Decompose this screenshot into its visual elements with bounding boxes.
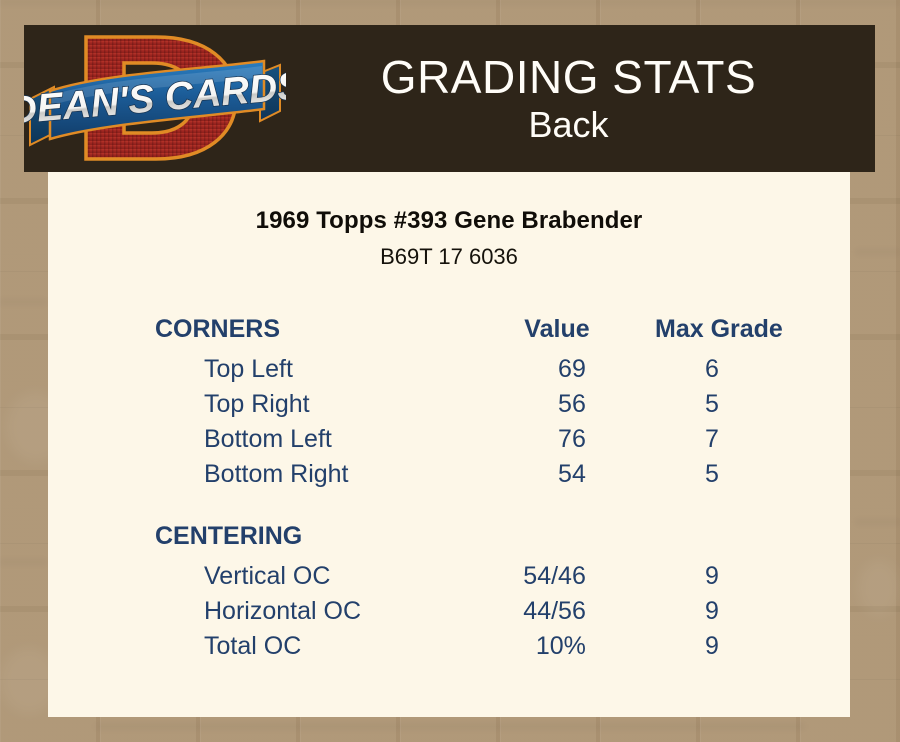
row-max-grade: 6 xyxy=(643,352,795,387)
column-header-max-grade: Max Grade xyxy=(643,306,795,352)
row-max-grade: 7 xyxy=(643,422,795,457)
row-label: Top Left xyxy=(155,352,471,387)
row-label: Bottom Left xyxy=(155,422,471,457)
table-row: Vertical OC54/469 xyxy=(155,559,795,594)
deans-cards-logo[interactable]: DEAN'S CARDS xyxy=(24,25,286,172)
card-serial-number: B69T 17 6036 xyxy=(48,244,850,270)
table-row: Bottom Right545 xyxy=(155,457,795,492)
table-row: Bottom Left767 xyxy=(155,422,795,457)
row-value: 76 xyxy=(471,422,643,457)
row-max-grade: 9 xyxy=(643,594,795,629)
row-value: 56 xyxy=(471,387,643,422)
row-label: Top Right xyxy=(155,387,471,422)
table-row: Total OC10%9 xyxy=(155,629,795,664)
row-label: Total OC xyxy=(155,629,471,664)
section-spacer xyxy=(155,492,795,513)
section-heading-centering: CENTERING xyxy=(155,513,471,559)
table-header-row: CORNERSValueMax Grade xyxy=(155,306,795,352)
table-row: Horizontal OC44/569 xyxy=(155,594,795,629)
content-panel: 1969 Topps #393 Gene Brabender B69T 17 6… xyxy=(48,172,850,717)
header-band: DEAN'S CARDS GRADING STATS Back xyxy=(24,25,875,172)
row-max-grade: 9 xyxy=(643,629,795,664)
row-label: Bottom Right xyxy=(155,457,471,492)
card-title: 1969 Topps #393 Gene Brabender xyxy=(48,207,850,235)
grading-stats-section: CORNERSValueMax GradeTop Left696Top Righ… xyxy=(48,306,850,664)
row-max-grade: 5 xyxy=(643,387,795,422)
section-heading-row: CENTERING xyxy=(155,513,795,559)
row-value: 54 xyxy=(471,457,643,492)
column-header-value: Value xyxy=(471,306,643,352)
page-subtitle: Back xyxy=(286,104,851,146)
row-value: 44/56 xyxy=(471,594,643,629)
section-heading-corners: CORNERS xyxy=(155,306,471,352)
page-title: GRADING STATS xyxy=(286,50,851,104)
row-value: 54/46 xyxy=(471,559,643,594)
row-value: 10% xyxy=(471,629,643,664)
row-label: Vertical OC xyxy=(155,559,471,594)
row-max-grade: 9 xyxy=(643,559,795,594)
row-max-grade: 5 xyxy=(643,457,795,492)
grading-stats-table: CORNERSValueMax GradeTop Left696Top Righ… xyxy=(155,306,795,664)
row-value: 69 xyxy=(471,352,643,387)
header-titles: GRADING STATS Back xyxy=(286,50,875,146)
table-row: Top Right565 xyxy=(155,387,795,422)
row-label: Horizontal OC xyxy=(155,594,471,629)
table-row: Top Left696 xyxy=(155,352,795,387)
